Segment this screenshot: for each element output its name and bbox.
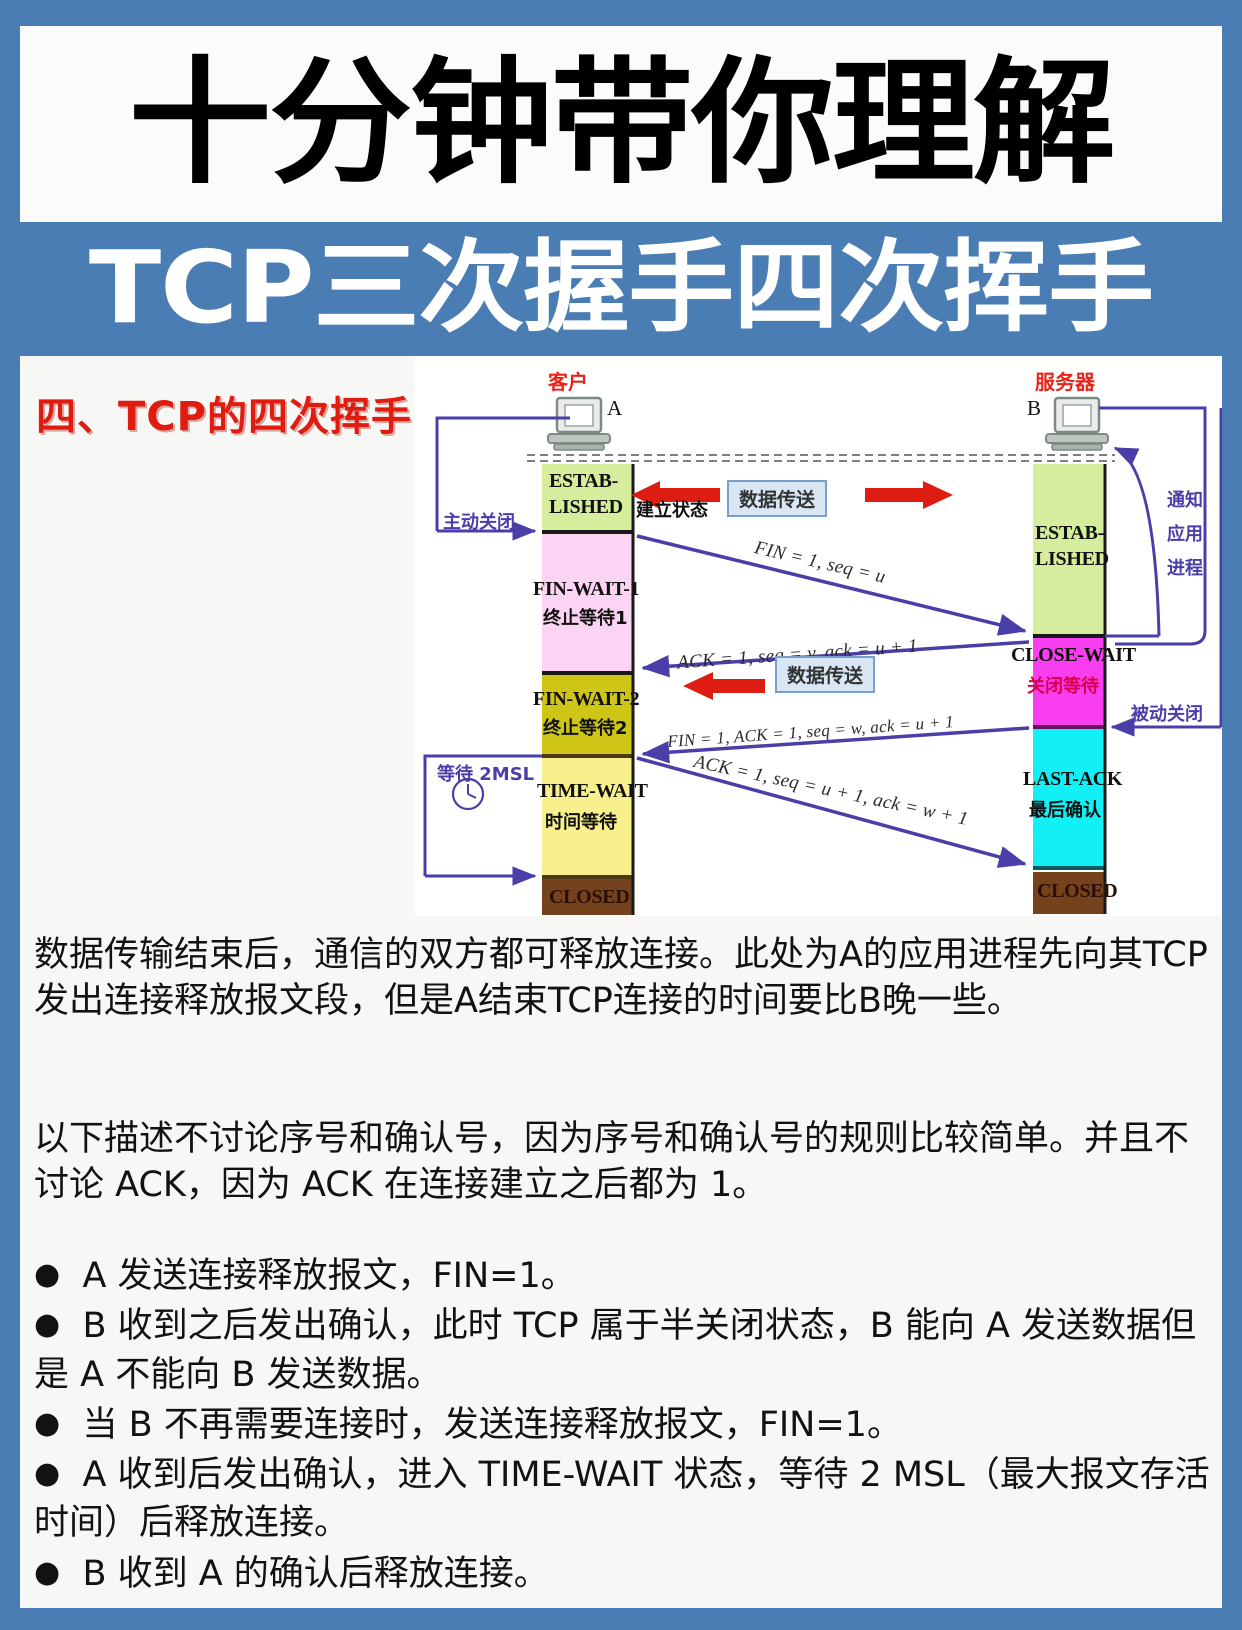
bullet-dot: ● bbox=[34, 1406, 60, 1441]
client-state-0-line2: LISHED bbox=[549, 496, 623, 519]
client-state-4-en: CLOSED bbox=[549, 886, 629, 909]
title-card: 十分钟带你理解 bbox=[20, 26, 1222, 222]
client-state-1-cn: 终止等待1 bbox=[543, 604, 628, 630]
wait-2msl-label: 等待 2MSL bbox=[437, 760, 534, 786]
client-state-1-en: FIN-WAIT-1 bbox=[533, 578, 639, 601]
server-state-0-line2: LISHED bbox=[1035, 548, 1109, 571]
notify-app-line-1: 通知 bbox=[1167, 486, 1203, 512]
server-computer-icon bbox=[1046, 398, 1108, 450]
page-subtitle: TCP三次握手四次挥手 bbox=[89, 238, 1153, 338]
server-state-1-en: CLOSE-WAIT bbox=[1011, 644, 1136, 667]
bullet-text: A 收到后发出确认，进入 TIME-WAIT 状态，等待 2 MSL（最大报文存… bbox=[34, 1455, 1210, 1543]
notify-app-line-2: 应用 bbox=[1167, 520, 1203, 546]
notify-app-line-3: 进程 bbox=[1167, 554, 1203, 580]
client-role-label: 客户 bbox=[548, 366, 588, 395]
list-item: ● A 发送连接释放报文，FIN=1。 bbox=[34, 1252, 1220, 1300]
subtitle-band: TCP三次握手四次挥手 bbox=[0, 228, 1242, 348]
data-transfer-arrow-right-1 bbox=[865, 481, 953, 509]
established-note: 建立状态 bbox=[636, 496, 708, 522]
client-computer-icon bbox=[548, 398, 610, 450]
tcp-four-way-handshake-diagram: 客户 A 服务器 B 主动关闭 被动关闭 等待 2MSL 通知 应用 进程 ES… bbox=[415, 356, 1222, 916]
bullet-text: B 收到之后发出确认，此时 TCP 属于半关闭状态，B 能向 A 发送数据但是 … bbox=[34, 1306, 1196, 1394]
client-state-3-cn: 时间等待 bbox=[545, 808, 617, 834]
paragraph-2: 以下描述不讨论序号和确认号，因为序号和确认号的规则比较简单。并且不讨论 ACK，… bbox=[34, 1116, 1212, 1208]
data-transfer-arrow-left-2 bbox=[683, 672, 765, 700]
arrow-fin-1 bbox=[637, 536, 1025, 631]
active-close-label: 主动关闭 bbox=[443, 508, 515, 534]
diagram-canvas bbox=[415, 356, 1222, 916]
section-heading: 四、TCP的四次挥手 bbox=[36, 384, 412, 442]
server-state-2-cn: 最后确认 bbox=[1029, 796, 1101, 822]
list-item: ● B 收到 A 的确认后释放连接。 bbox=[34, 1550, 1220, 1598]
passive-close-label: 被动关闭 bbox=[1131, 700, 1203, 726]
bullet-dot: ● bbox=[34, 1307, 60, 1342]
list-item: ● 当 B 不再需要连接时，发送连接释放报文，FIN=1。 bbox=[34, 1401, 1220, 1449]
data-transfer-box-1: 数据传送 bbox=[727, 480, 827, 517]
client-state-0-line1: ESTAB- bbox=[549, 470, 618, 493]
bullet-dot: ● bbox=[34, 1456, 60, 1491]
client-node-letter: A bbox=[607, 396, 622, 421]
bullet-text: A 发送连接释放报文，FIN=1。 bbox=[82, 1256, 575, 1296]
server-node-letter: B bbox=[1027, 396, 1041, 421]
server-state-3-en: CLOSED bbox=[1037, 880, 1117, 903]
client-state-2-cn: 终止等待2 bbox=[543, 714, 628, 740]
bullet-list: ● A 发送连接释放报文，FIN=1。 ● B 收到之后发出确认，此时 TCP … bbox=[34, 1252, 1220, 1600]
list-item: ● A 收到后发出确认，进入 TIME-WAIT 状态，等待 2 MSL（最大报… bbox=[34, 1451, 1220, 1548]
bullet-text: B 收到 A 的确认后释放连接。 bbox=[82, 1554, 548, 1594]
client-state-2-en: FIN-WAIT-2 bbox=[533, 688, 639, 711]
content-card: 四、TCP的四次挥手 bbox=[20, 356, 1222, 1608]
bullet-dot: ● bbox=[34, 1555, 60, 1590]
poster-page: 十分钟带你理解 TCP三次握手四次挥手 四、TCP的四次挥手 bbox=[0, 0, 1242, 1630]
client-state-3-en: TIME-WAIT bbox=[537, 780, 648, 803]
server-role-label: 服务器 bbox=[1035, 366, 1095, 395]
paragraph-1: 数据传输结束后，通信的双方都可释放连接。此处为A的应用进程先向其TCP发出连接释… bbox=[34, 932, 1212, 1024]
server-state-1-cn: 关闭等待 bbox=[1027, 672, 1099, 698]
list-item: ● B 收到之后发出确认，此时 TCP 属于半关闭状态，B 能向 A 发送数据但… bbox=[34, 1302, 1220, 1399]
server-state-0-line1: ESTAB- bbox=[1035, 522, 1104, 545]
page-title: 十分钟带你理解 bbox=[129, 56, 1114, 192]
data-transfer-box-2: 数据传送 bbox=[775, 656, 875, 693]
bullet-dot: ● bbox=[34, 1257, 60, 1292]
bullet-text: 当 B 不再需要连接时，发送连接释放报文，FIN=1。 bbox=[82, 1405, 902, 1445]
server-state-2-en: LAST-ACK bbox=[1023, 768, 1122, 791]
